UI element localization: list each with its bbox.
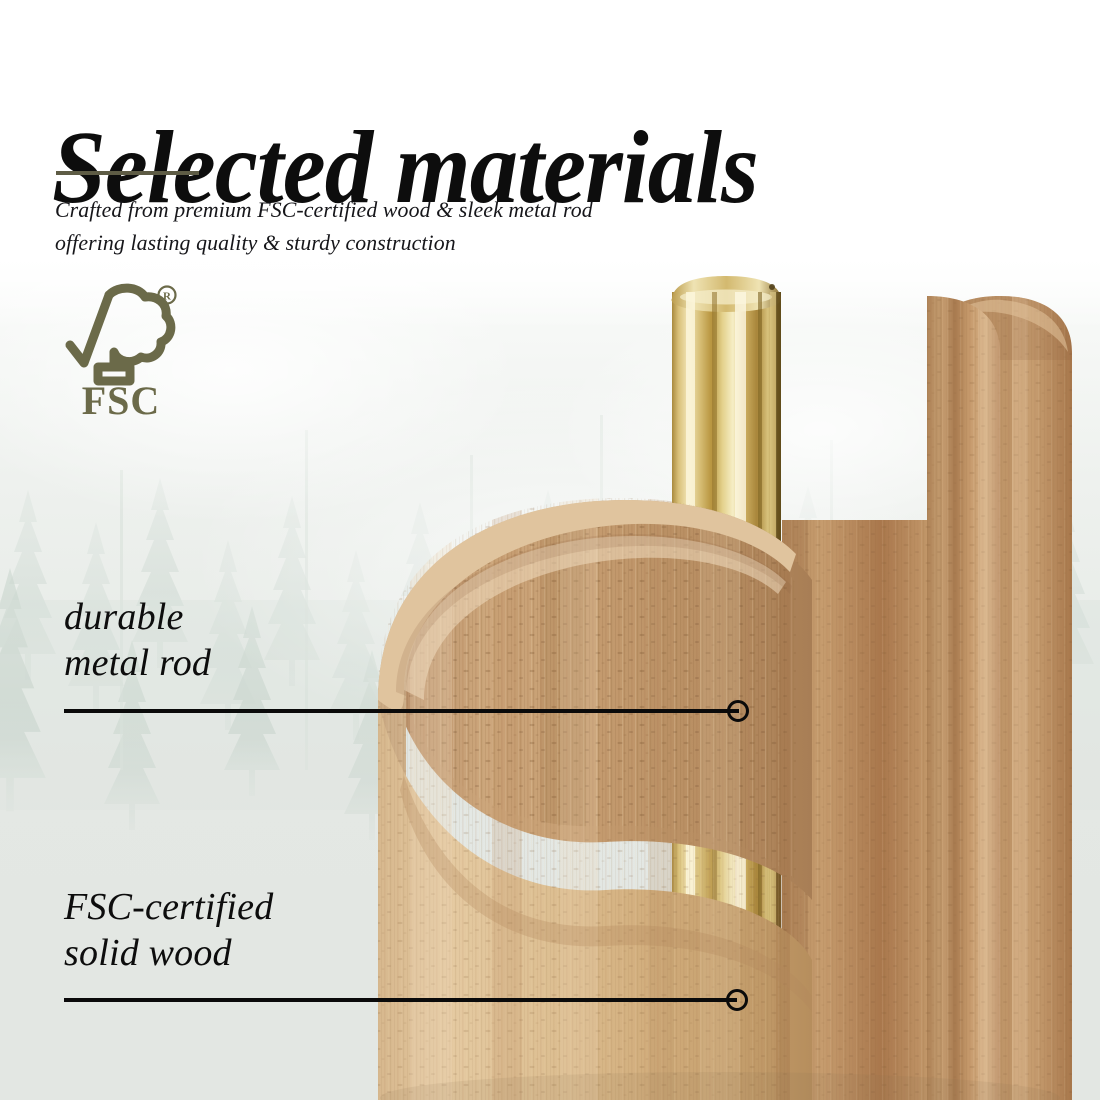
marketing-infographic: Selected materials Crafted from premium … (0, 0, 1100, 1100)
subtitle-line-2: offering lasting quality & sturdy constr… (55, 226, 593, 259)
callout-line-1: FSC-certified (64, 884, 273, 930)
curved-wood-shell (370, 480, 830, 1100)
svg-text:FSC: FSC (82, 378, 161, 418)
leader-endpoint-circle (727, 700, 749, 722)
leader-line (64, 998, 737, 1002)
leader-line (64, 709, 739, 713)
subtitle-line-1: Crafted from premium FSC-certified wood … (55, 193, 593, 226)
title-divider (56, 171, 199, 175)
fsc-logo: R FSC (62, 283, 180, 418)
registered-trademark-icon: R (159, 287, 176, 304)
callout-label: FSC-certified solid wood (64, 884, 273, 976)
callout-line-2: metal rod (64, 640, 211, 686)
subtitle: Crafted from premium FSC-certified wood … (55, 193, 593, 259)
wood-front-post (920, 290, 1010, 1100)
callout-durable-metal-rod: durable metal rod (64, 594, 211, 686)
leader-endpoint-circle (726, 989, 748, 1011)
svg-text:R: R (163, 291, 172, 303)
callout-fsc-certified-solid-wood: FSC-certified solid wood (64, 884, 273, 976)
callout-line-1: durable (64, 594, 211, 640)
callout-line-2: solid wood (64, 930, 273, 976)
callout-label: durable metal rod (64, 594, 211, 686)
